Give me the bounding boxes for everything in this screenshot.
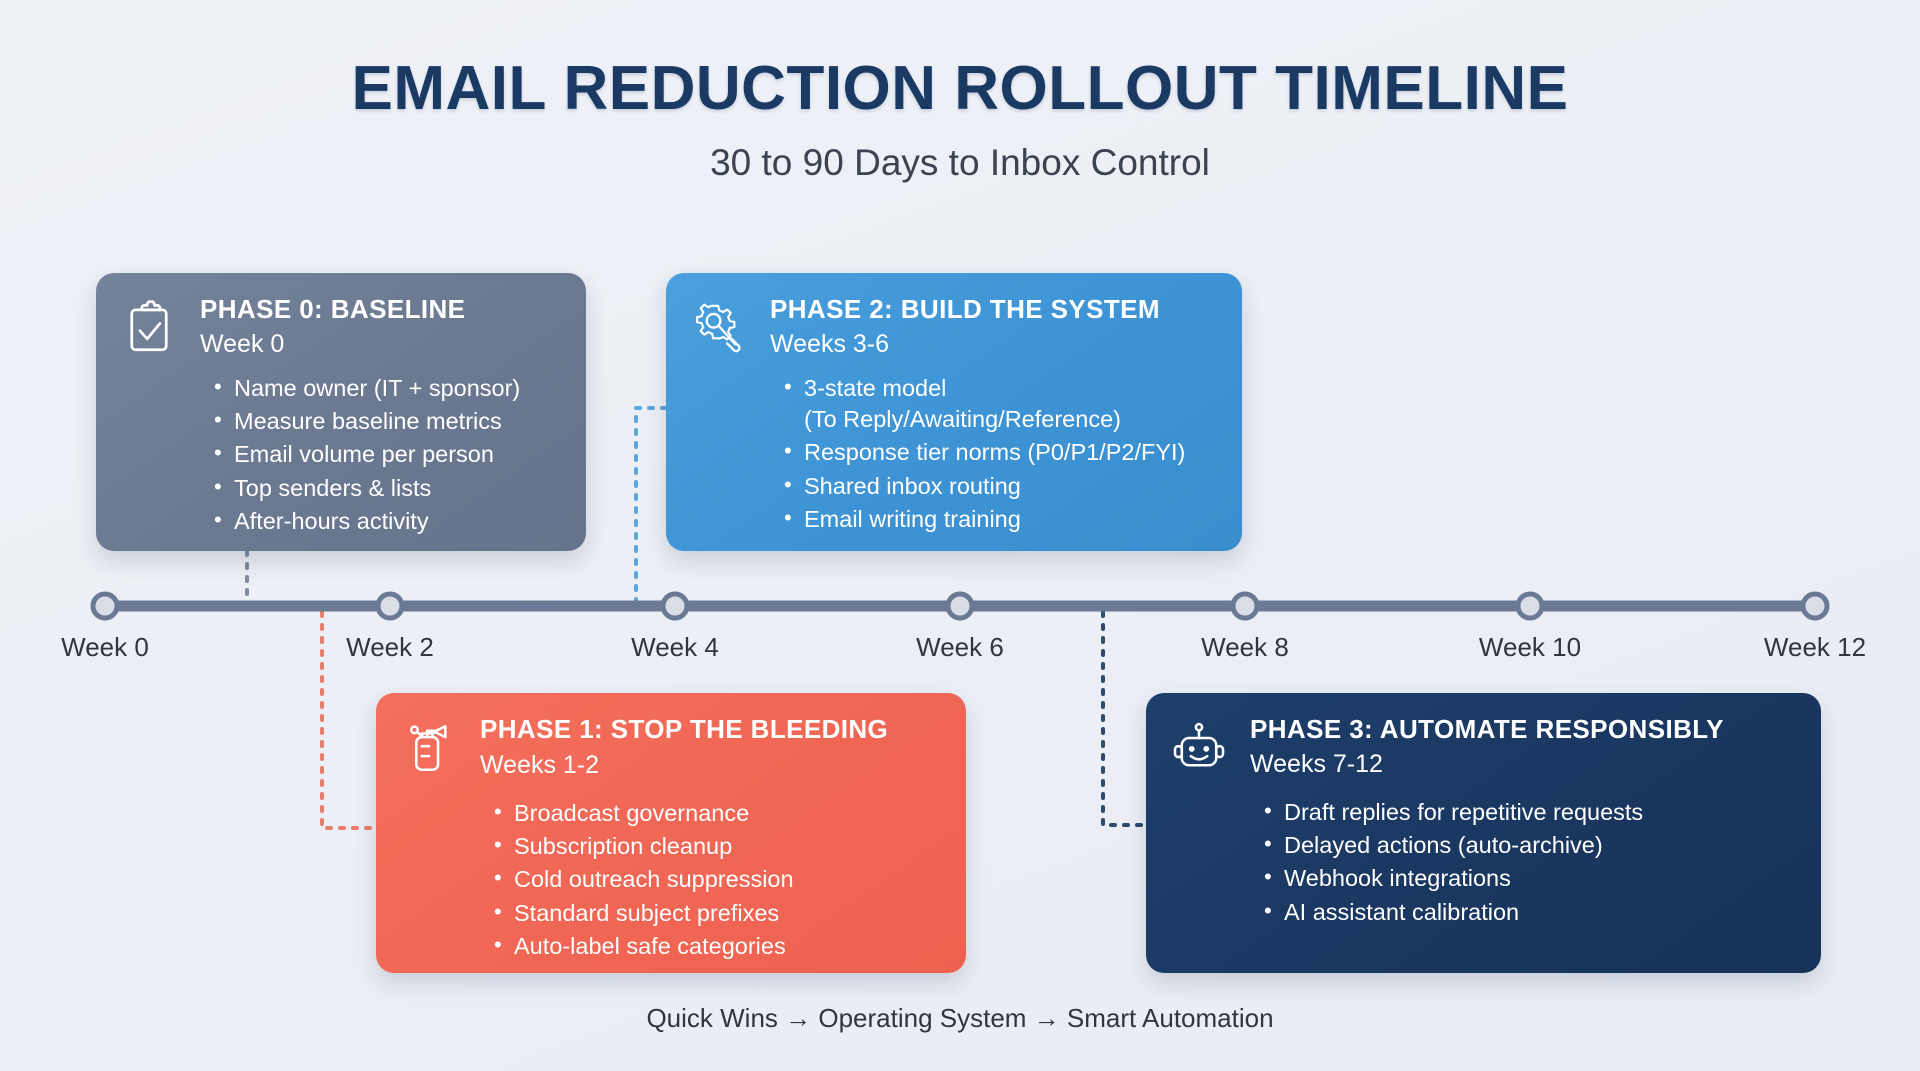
week-tick-label: Week 10	[1479, 632, 1581, 663]
week-tick-label: Week 6	[916, 632, 1004, 663]
phase-title: PHASE 2: BUILD THE SYSTEM	[770, 295, 1216, 324]
card-phase-0[interactable]: PHASE 0: BASELINE Week 0 Name owner (IT …	[96, 273, 586, 551]
phase-bullet-list: Draft replies for repetitive requestsDel…	[1250, 797, 1795, 928]
connector-phase2	[636, 408, 666, 600]
phase-weeks: Weeks 1-2	[480, 751, 940, 780]
bullet-item: Shared inbox routing	[784, 471, 1216, 502]
bullet-item: Email volume per person	[214, 439, 560, 470]
phase-weeks: Weeks 7-12	[1250, 750, 1795, 779]
bullet-item: Broadcast governance	[494, 798, 940, 829]
clipboard-check-icon	[120, 295, 182, 525]
bullet-item: Delayed actions (auto-archive)	[1264, 830, 1795, 861]
bullet-item: Webhook integrations	[1264, 863, 1795, 894]
header: EMAIL REDUCTION ROLLOUT TIMELINE 30 to 9…	[0, 56, 1920, 184]
phase-weeks: Weeks 3-6	[770, 330, 1216, 359]
bullet-item: Top senders & lists	[214, 473, 560, 504]
bullet-item: Email writing training	[784, 504, 1216, 535]
week-tick-label: Week 12	[1764, 632, 1866, 663]
timeline-markers	[93, 594, 1827, 618]
phase-bullet-list: Broadcast governanceSubscription cleanup…	[480, 798, 940, 962]
card-body: PHASE 1: STOP THE BLEEDING Weeks 1-2 Bro…	[480, 715, 940, 947]
timeline-marker[interactable]	[948, 594, 972, 618]
phase-title: PHASE 3: AUTOMATE RESPONSIBLY	[1250, 715, 1795, 744]
timeline-marker[interactable]	[93, 594, 117, 618]
timeline-marker[interactable]	[378, 594, 402, 618]
bullet-item: 3-state model (To Reply/Awaiting/Referen…	[784, 373, 1216, 436]
card-phase-3[interactable]: PHASE 3: AUTOMATE RESPONSIBLY Weeks 7-12…	[1146, 693, 1821, 973]
phase-weeks: Week 0	[200, 330, 560, 359]
page-subtitle: 30 to 90 Days to Inbox Control	[0, 143, 1920, 184]
bullet-item: Measure baseline metrics	[214, 406, 560, 437]
bullet-item: Name owner (IT + sponsor)	[214, 373, 560, 404]
week-tick-label: Week 2	[346, 632, 434, 663]
bullet-item: Subscription cleanup	[494, 831, 940, 862]
timeline-marker[interactable]	[663, 594, 687, 618]
infographic-canvas: EMAIL REDUCTION ROLLOUT TIMELINE 30 to 9…	[0, 0, 1920, 1071]
bullet-item: Draft replies for repetitive requests	[1264, 797, 1795, 828]
page-title: EMAIL REDUCTION ROLLOUT TIMELINE	[0, 56, 1920, 121]
connector-phase3	[1103, 612, 1146, 825]
week-tick-label: Week 0	[61, 632, 149, 663]
card-phase-2[interactable]: PHASE 2: BUILD THE SYSTEM Weeks 3-6 3-st…	[666, 273, 1242, 551]
phase-title: PHASE 0: BASELINE	[200, 295, 560, 324]
bullet-item: After-hours activity	[214, 506, 560, 537]
fire-extinguisher-icon	[400, 715, 462, 947]
phase-bullet-list: 3-state model (To Reply/Awaiting/Referen…	[770, 373, 1216, 535]
bullet-item: Standard subject prefixes	[494, 898, 940, 929]
bullet-item: Cold outreach suppression	[494, 864, 940, 895]
card-body: PHASE 2: BUILD THE SYSTEM Weeks 3-6 3-st…	[770, 295, 1216, 525]
robot-icon	[1170, 715, 1232, 947]
bullet-item: Response tier norms (P0/P1/P2/FYI)	[784, 437, 1216, 468]
timeline-marker[interactable]	[1233, 594, 1257, 618]
week-tick-label: Week 4	[631, 632, 719, 663]
timeline-marker[interactable]	[1518, 594, 1542, 618]
gear-wrench-icon	[690, 295, 752, 525]
card-body: PHASE 3: AUTOMATE RESPONSIBLY Weeks 7-12…	[1250, 715, 1795, 947]
phase-bullet-list: Name owner (IT + sponsor)Measure baselin…	[200, 373, 560, 537]
bullet-item: Auto-label safe categories	[494, 931, 940, 962]
timeline-marker[interactable]	[1803, 594, 1827, 618]
week-tick-label: Week 8	[1201, 632, 1289, 663]
card-phase-1[interactable]: PHASE 1: STOP THE BLEEDING Weeks 1-2 Bro…	[376, 693, 966, 973]
bullet-item: AI assistant calibration	[1264, 897, 1795, 928]
phase-title: PHASE 1: STOP THE BLEEDING	[480, 715, 940, 744]
card-body: PHASE 0: BASELINE Week 0 Name owner (IT …	[200, 295, 560, 525]
footer-summary: Quick Wins → Operating System → Smart Au…	[0, 1003, 1920, 1034]
